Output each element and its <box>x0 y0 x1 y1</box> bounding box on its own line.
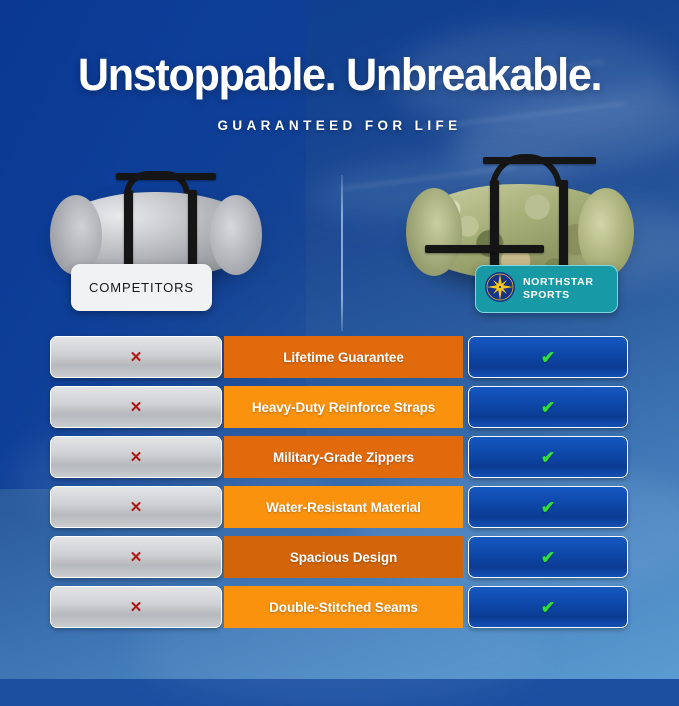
competitor-cell: ✕ <box>50 486 222 528</box>
comparison-row: ✕Spacious Design✔ <box>0 536 679 578</box>
feature-label: Double-Stitched Seams <box>224 586 463 628</box>
brand-cell: ✔ <box>468 586 628 628</box>
comparison-row: ✕Lifetime Guarantee✔ <box>0 336 679 378</box>
feature-label: Military-Grade Zippers <box>224 436 463 478</box>
brand-cell: ✔ <box>468 436 628 478</box>
comparison-row: ✕Heavy-Duty Reinforce Straps✔ <box>0 386 679 428</box>
cross-icon: ✕ <box>130 500 143 515</box>
feature-label: Lifetime Guarantee <box>224 336 463 378</box>
feature-label: Heavy-Duty Reinforce Straps <box>224 386 463 428</box>
competitor-cell: ✕ <box>50 386 222 428</box>
vertical-divider <box>341 175 343 331</box>
comparison-row: ✕Military-Grade Zippers✔ <box>0 436 679 478</box>
bag-strap <box>490 180 499 271</box>
feature-label: Water-Resistant Material <box>224 486 463 528</box>
cross-icon: ✕ <box>130 450 143 465</box>
bag-handle-bar <box>483 157 595 164</box>
comparison-row: ✕Water-Resistant Material✔ <box>0 486 679 528</box>
competitors-label: COMPETITORS <box>71 264 212 311</box>
bag-strap <box>124 190 133 269</box>
competitor-cell: ✕ <box>50 336 222 378</box>
header: Unstoppable. Unbreakable. GUARANTEED FOR… <box>0 52 679 133</box>
cross-icon: ✕ <box>130 600 143 615</box>
page-subtitle: GUARANTEED FOR LIFE <box>0 118 679 133</box>
competitor-cell: ✕ <box>50 536 222 578</box>
bag-strap <box>188 190 197 269</box>
check-icon: ✔ <box>541 449 555 466</box>
brand-badge: NORTHSTAR SPORTS <box>475 265 618 313</box>
brand-cell: ✔ <box>468 386 628 428</box>
check-icon: ✔ <box>541 399 555 416</box>
brand-cell: ✔ <box>468 486 628 528</box>
competitor-cell: ✕ <box>50 436 222 478</box>
competitor-cell: ✕ <box>50 586 222 628</box>
comparison-table: ✕Lifetime Guarantee✔✕Heavy-Duty Reinforc… <box>0 336 679 636</box>
brand-name-line2: SPORTS <box>523 289 570 301</box>
brand-name: NORTHSTAR SPORTS <box>523 276 594 302</box>
bag-handle-bar <box>116 173 216 180</box>
bag-end-cap <box>210 195 262 274</box>
comparison-row: ✕Double-Stitched Seams✔ <box>0 586 679 628</box>
cross-icon: ✕ <box>130 550 143 565</box>
page-title: Unstoppable. Unbreakable. <box>14 52 666 97</box>
check-icon: ✔ <box>541 599 555 616</box>
bag-end-cap <box>50 195 102 274</box>
compass-star-emblem-icon <box>484 271 516 308</box>
bag-end-cap <box>578 188 634 276</box>
cross-icon: ✕ <box>130 400 143 415</box>
bag-side-strap <box>425 245 544 253</box>
feature-label: Spacious Design <box>224 536 463 578</box>
product-showcase: COMPETITORS <box>0 150 679 335</box>
brand-cell: ✔ <box>468 336 628 378</box>
bag-end-cap <box>406 188 462 276</box>
brand-name-line1: NORTHSTAR <box>523 276 594 288</box>
check-icon: ✔ <box>541 349 555 366</box>
cross-icon: ✕ <box>130 350 143 365</box>
bag-strap <box>559 180 568 271</box>
check-icon: ✔ <box>541 499 555 516</box>
check-icon: ✔ <box>541 549 555 566</box>
brand-cell: ✔ <box>468 536 628 578</box>
